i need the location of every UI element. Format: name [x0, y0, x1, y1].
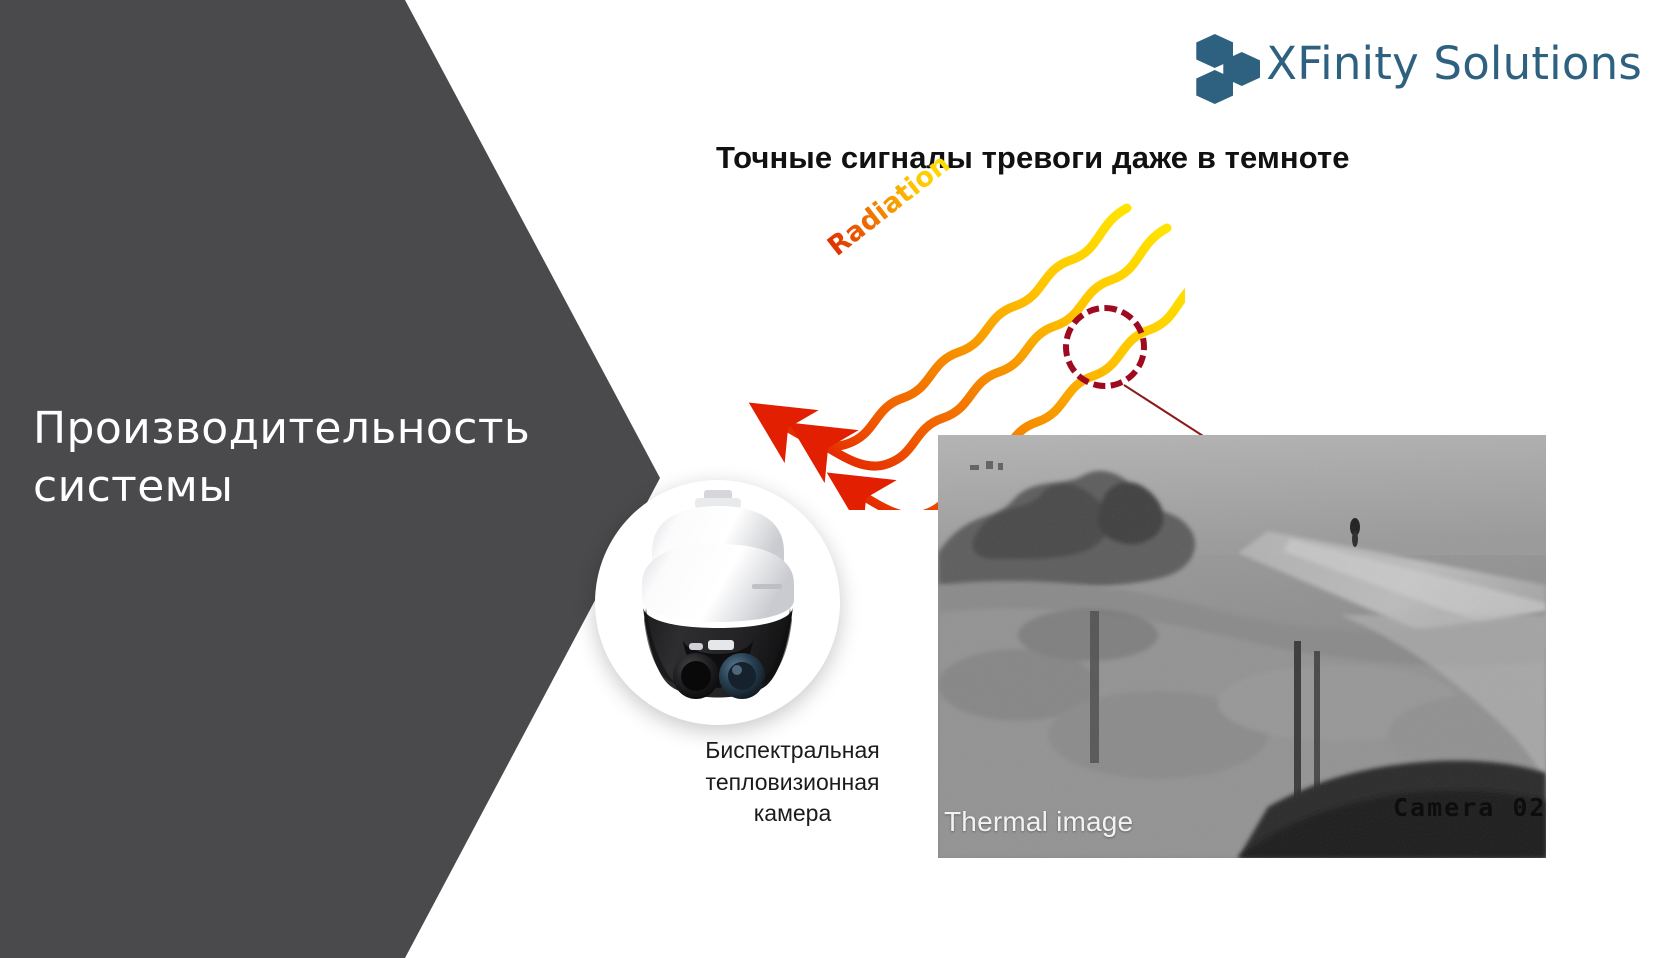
- camera-caption-line-3: камера: [660, 798, 925, 830]
- page-title-line-2: системы: [33, 458, 563, 516]
- page-title-line-1: Производительность: [33, 400, 563, 458]
- thermal-image-label: Thermal image: [944, 806, 1133, 838]
- camera-caption-line-2: тепловизионная: [660, 767, 925, 799]
- brand-logo: XFinity Solutions: [1196, 33, 1642, 93]
- camera-caption: Биспектральная тепловизионная камера: [660, 735, 925, 830]
- brand-name: XFinity Solutions: [1266, 37, 1642, 90]
- slide-canvas: Производительность системы XFinity Solut…: [0, 0, 1680, 958]
- camera-caption-line-1: Биспектральная: [660, 735, 925, 767]
- camera-id-overlay: Camera 02: [1393, 793, 1546, 822]
- hexagon-cluster-icon: [1196, 33, 1264, 93]
- ptz-dome-thermal-camera-image: [612, 488, 824, 703]
- page-title: Производительность системы: [33, 400, 563, 516]
- section-heading: Точные сигналы тревоги даже в темноте: [716, 140, 1350, 176]
